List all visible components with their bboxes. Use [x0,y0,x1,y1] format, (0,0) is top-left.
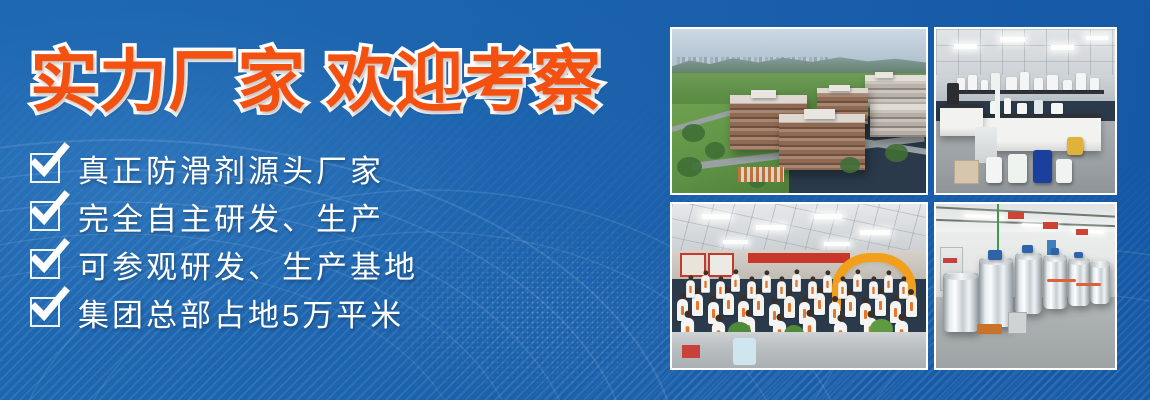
list-item: 可参观研发、生产基地 [30,240,418,288]
photo-grid [670,27,1117,370]
checkbox-checked-icon [30,249,60,279]
checkbox-checked-icon [30,153,60,183]
photo-production-tanks [934,202,1117,370]
photo-campus-aerial [670,27,928,195]
selling-point-list: 真正防滑剂源头厂家 完全自主研发、生产 可参观研发、生产基地 [30,144,418,336]
list-item: 集团总部占地5万平米 [30,288,418,336]
list-item: 真正防滑剂源头厂家 [30,144,418,192]
checkbox-checked-icon [30,297,60,327]
photo-office-team [670,202,928,370]
photo-laboratory [934,27,1117,195]
list-item-label: 可参观研发、生产基地 [78,242,418,287]
list-item-label: 真正防滑剂源头厂家 [78,146,384,191]
factory-promo-banner: 实力厂家 欢迎考察 真正防滑剂源头厂家 完全自主研发、生产 [0,0,1150,400]
list-item: 完全自主研发、生产 [30,192,418,240]
list-item-label: 完全自主研发、生产 [78,194,384,239]
headline: 实力厂家 欢迎考察 [30,48,602,116]
checkbox-checked-icon [30,201,60,231]
list-item-label: 集团总部占地5万平米 [78,290,404,335]
copy-column: 实力厂家 欢迎考察 真正防滑剂源头厂家 完全自主研发、生产 [0,0,660,400]
